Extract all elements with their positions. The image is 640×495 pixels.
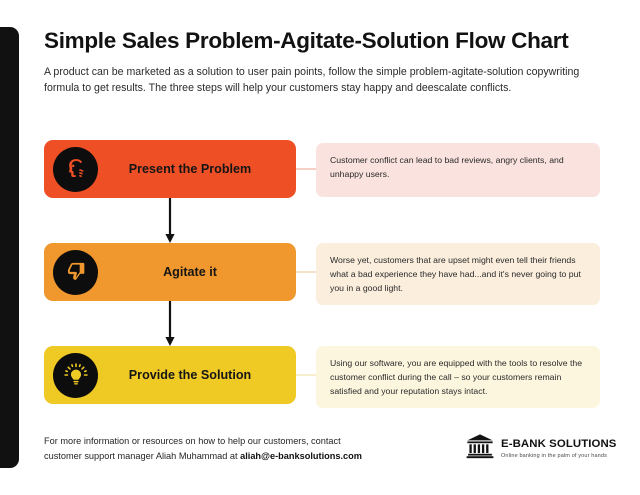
step-description-3: Using our software, you are equipped wit…: [316, 346, 600, 408]
logo-tagline: Online banking in the palm of your hands: [501, 453, 617, 459]
footer-contact: For more information or resources on how…: [44, 434, 384, 464]
step-description-2: Worse yet, customers that are upset migh…: [316, 243, 600, 305]
flowchart-page: Simple Sales Problem-Agitate-Solution Fl…: [0, 0, 640, 495]
footer-email-link[interactable]: aliah@e-banksolutions.com: [240, 451, 362, 461]
step-box-2[interactable]: Agitate it: [44, 243, 296, 301]
step-description-text-3: Using our software, you are equipped wit…: [330, 358, 582, 396]
header: Simple Sales Problem-Agitate-Solution Fl…: [44, 28, 600, 96]
step-description-1: Customer conflict can lead to bad review…: [316, 143, 600, 197]
flow-row-3: Provide the Solution Using our software,…: [0, 346, 640, 404]
thumbs-down-icon: [53, 250, 98, 295]
flow-arrow-2: [0, 301, 640, 346]
logo-text-block: E-BANK SOLUTIONS Online banking in the p…: [501, 438, 617, 459]
flow-row-2: Agitate it Worse yet, customers that are…: [0, 243, 640, 301]
step-description-text-1: Customer conflict can lead to bad review…: [330, 155, 564, 179]
step-label-1: Present the Problem: [98, 162, 296, 176]
logo-company-name: E-BANK SOLUTIONS: [501, 438, 617, 451]
lightbulb-icon: [53, 353, 98, 398]
flow-row-1: Present the Problem Customer conflict ca…: [0, 140, 640, 198]
company-logo: E-BANK SOLUTIONS Online banking in the p…: [466, 433, 617, 464]
step-box-1[interactable]: Present the Problem: [44, 140, 296, 198]
footer-contact-line1: For more information or resources on how…: [44, 436, 341, 446]
footer-contact-line2: customer support manager Aliah Muhammad …: [44, 451, 240, 461]
page-title: Simple Sales Problem-Agitate-Solution Fl…: [44, 28, 600, 55]
step-description-text-2: Worse yet, customers that are upset migh…: [330, 255, 581, 293]
speaking-head-icon: [53, 147, 98, 192]
bank-building-icon: [466, 433, 494, 464]
intro-paragraph: A product can be marketed as a solution …: [44, 64, 596, 96]
step-box-3[interactable]: Provide the Solution: [44, 346, 296, 404]
step-label-3: Provide the Solution: [98, 368, 296, 382]
step-label-2: Agitate it: [98, 265, 296, 279]
flow-arrow-1: [0, 198, 640, 243]
